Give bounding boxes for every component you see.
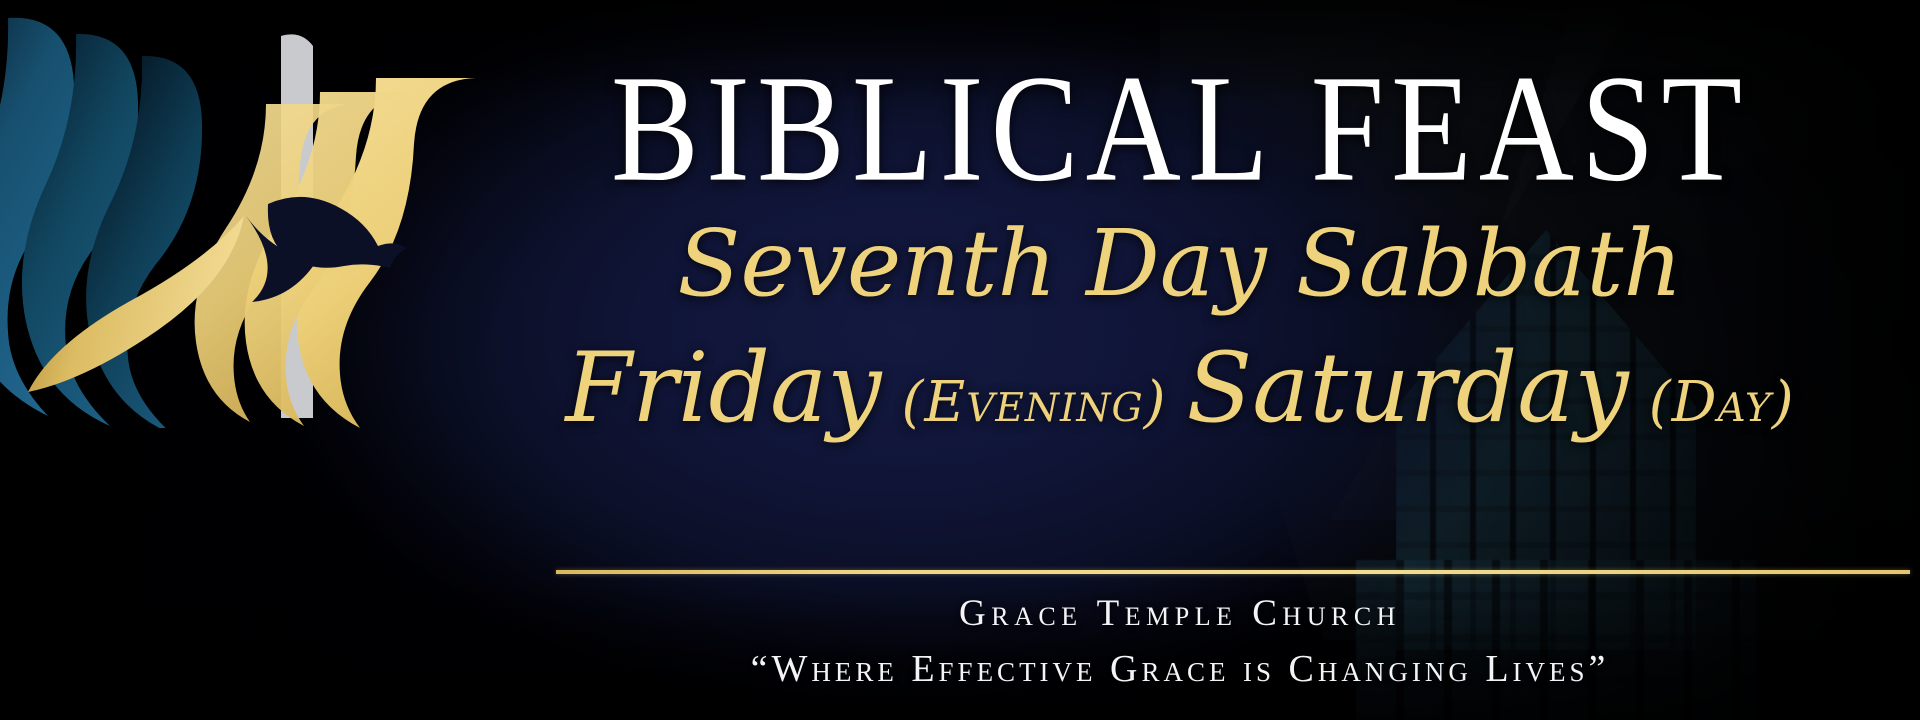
first-day-label: Friday bbox=[565, 332, 881, 444]
service-days-line: Friday(Evening)Saturday(Day) bbox=[440, 340, 1920, 436]
first-day-note: (Evening) bbox=[901, 370, 1166, 435]
grace-temple-dove-logo bbox=[0, 8, 480, 428]
page-title: BIBLICAL FEAST bbox=[440, 52, 1920, 205]
gold-divider-rule bbox=[556, 570, 1910, 574]
subtitle: Seventh Day Sabbath bbox=[440, 218, 1920, 310]
church-tagline: “Where Effective Grace is Changing Lives… bbox=[440, 650, 1920, 688]
logo-blue-wing bbox=[0, 18, 202, 428]
biblical-feast-banner: BIBLICAL FEAST Seventh Day Sabbath Frida… bbox=[0, 0, 1920, 720]
second-day-note: (Day) bbox=[1649, 370, 1795, 435]
church-name: Grace Temple Church bbox=[440, 595, 1920, 632]
second-day-label: Saturday bbox=[1187, 332, 1629, 444]
banner-content: BIBLICAL FEAST Seventh Day Sabbath Frida… bbox=[440, 0, 1920, 720]
